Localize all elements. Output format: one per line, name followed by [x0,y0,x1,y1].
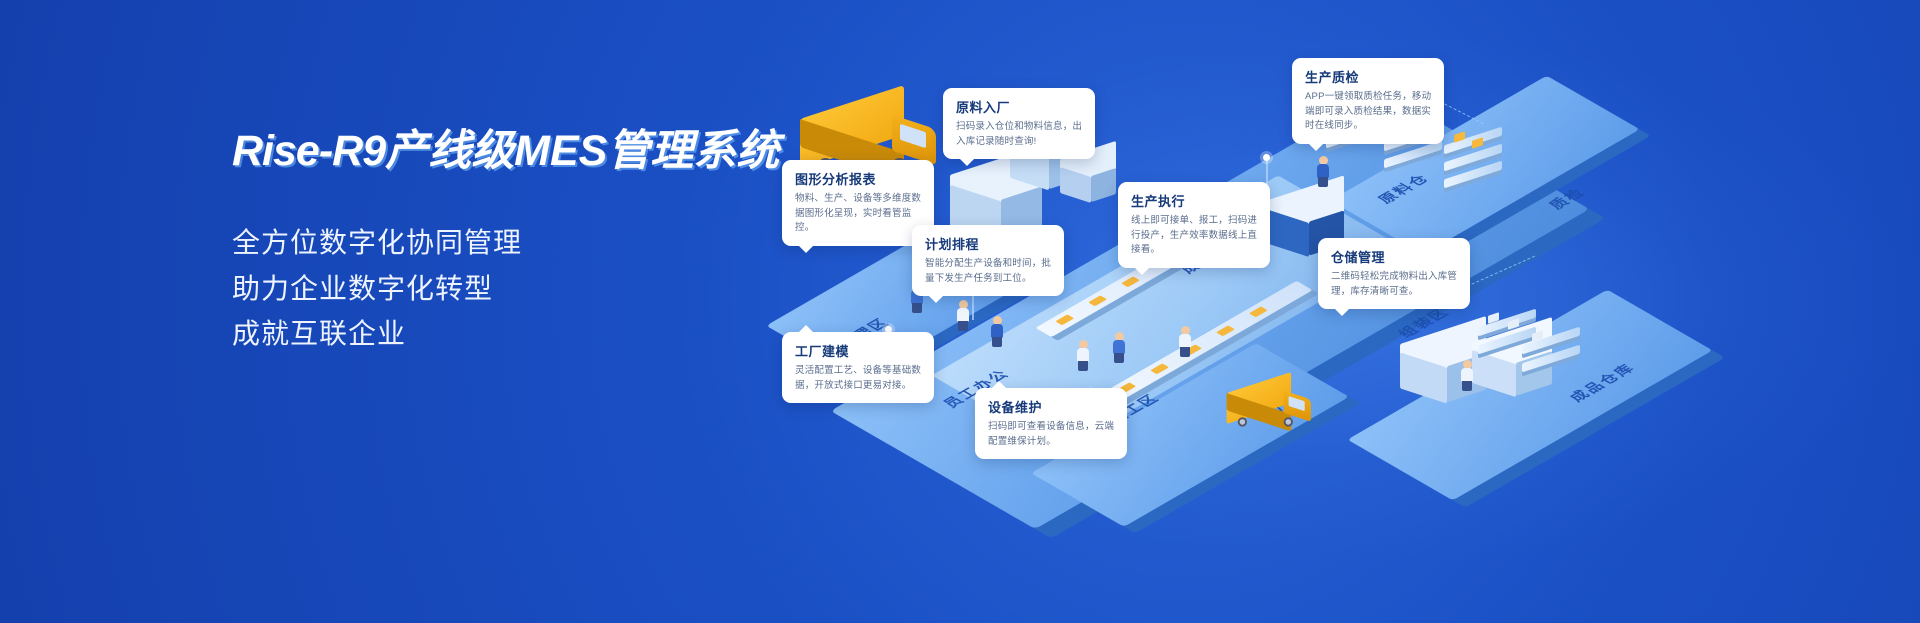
worker-figure-7 [1316,156,1330,186]
callout-body: 物料、生产、设备等多维度数据图形化呈现，实时看管监控。 [795,192,922,236]
callout-body: 灵活配置工艺、设备等基础数据，开放式接口更易对接。 [795,364,922,393]
hero-subtitle-2: 助力企业数字化转型 [232,266,832,311]
callout-pointer-icon [928,295,944,303]
hero-subtitle-1: 全方位数字化协同管理 [232,220,832,265]
callout-warehouse-management[interactable]: 仓储管理 二维码轻松完成物料出入库管理，库存清晰可查。 [1318,238,1470,309]
callout-raw-material-inbound[interactable]: 原料入厂 扫码录入仓位和物料信息，出入库记录随时查询! [943,88,1095,159]
callout-body: APP一键领取质检任务，移动端即可录入质检结果，数据实时在线同步。 [1305,90,1432,134]
isometric-factory-illustration: 管理区 员工办公 成品仓 原料仓 组装区 加工区 质检 成品仓库 出厂 [760,30,1920,600]
worker-figure-6 [1178,326,1192,356]
worker-figure-2 [956,300,970,330]
callout-body: 扫码即可查看设备信息，云端配置维保计划。 [988,420,1115,449]
callout-pointer-icon [991,381,1007,389]
callout-production-execution[interactable]: 生产执行 线上即可接单、报工，扫码进行投产，生产效率数据线上直接看。 [1118,182,1270,268]
callout-title: 计划排程 [925,234,1052,253]
hero-subtitle-list: 全方位数字化协同管理 助力企业数字化转型 成就互联企业 [232,220,832,356]
callout-title: 工厂建模 [795,341,922,360]
callout-equipment-maintenance[interactable]: 设备维护 扫码即可查看设备信息，云端配置维保计划。 [975,388,1127,459]
hero-subtitle-3: 成就互联企业 [232,311,832,356]
callout-title: 生产执行 [1131,191,1258,210]
hero-copy-block: Rise-R9产线级MES管理系统 全方位数字化协同管理 助力企业数字化转型 成… [232,128,832,356]
callout-production-quality-inspection[interactable]: 生产质检 APP一键领取质检任务，移动端即可录入质检结果，数据实时在线同步。 [1292,58,1444,144]
title-product-name: Rise-R9 [232,127,385,175]
callout-pointer-icon [1134,267,1150,275]
callout-pointer-icon [1308,143,1324,151]
callout-title: 生产质检 [1305,67,1432,86]
callout-pointer-icon [798,325,814,333]
callout-body: 线上即可接单、报工，扫码进行投产，生产效率数据线上直接看。 [1131,214,1258,258]
worker-figure-4 [1076,340,1090,370]
callout-pointer-icon [959,158,975,166]
callout-pointer-icon [1334,308,1350,316]
callout-body: 智能分配生产设备和时间，批量下发生产任务到工位。 [925,257,1052,286]
callout-factory-modeling[interactable]: 工厂建模 灵活配置工艺、设备等基础数据，开放式接口更易对接。 [782,332,934,403]
callout-body: 二维码轻松完成物料出入库管理，库存清晰可查。 [1331,270,1458,299]
title-product-desc: 产线级MES管理系统 [385,127,779,175]
callout-production-scheduling[interactable]: 计划排程 智能分配生产设备和时间，批量下发生产任务到工位。 [912,225,1064,296]
mes-hero-banner: Rise-R9产线级MES管理系统 全方位数字化协同管理 助力企业数字化转型 成… [0,0,1920,623]
callout-title: 图形分析报表 [795,169,922,188]
callout-pointer-icon [798,245,814,253]
worker-figure-5 [1112,332,1126,362]
callout-title: 原料入厂 [956,97,1083,116]
worker-figure-3 [990,316,1004,346]
callout-body: 扫码录入仓位和物料信息，出入库记录随时查询! [956,120,1083,149]
connector-dot-5 [1263,154,1270,161]
worker-figure-8 [1460,360,1474,390]
callout-title: 设备维护 [988,397,1115,416]
page-title: Rise-R9产线级MES管理系统 [232,128,832,175]
callout-title: 仓储管理 [1331,247,1458,266]
outbound-truck-icon [1227,376,1314,429]
